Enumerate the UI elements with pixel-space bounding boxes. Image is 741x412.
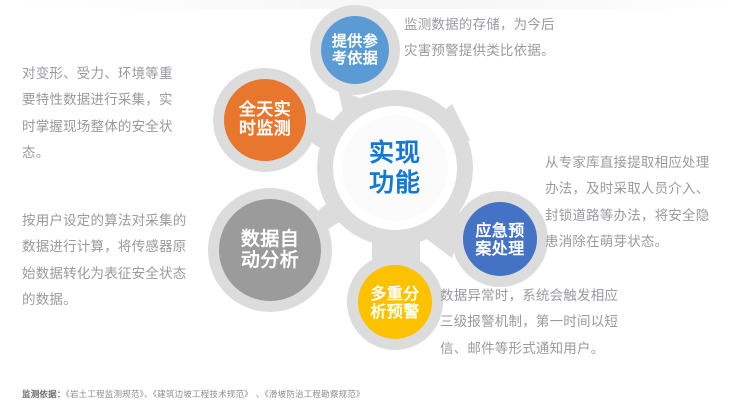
desc-realtime-monitoring-line-4: 态。 [22, 140, 232, 166]
desc-reference-basis: 监测数据的存储，为今后 灾害预警提供类比依据。 [404, 12, 654, 65]
desc-multi-alert: 数据异常时，系统会触发相应 三级报警机制，第一时间以短 信、邮件等形式通知用户。 [440, 283, 720, 362]
desc-emergency-plan-line-1: 从专家库直接提取相应处理 [545, 150, 741, 176]
desc-realtime-monitoring-line-3: 时掌握现场整体的安全状 [22, 114, 232, 140]
infographic-page: 实现 功能 提供参 考依据 全天实 时监测 数据自 动分析 多重分 析预警 应急… [0, 0, 741, 412]
desc-multi-alert-line-3: 信、邮件等形式通知用户。 [440, 336, 720, 362]
desc-realtime-monitoring-line-1: 对变形、受力、环境等重 [22, 61, 232, 87]
desc-emergency-plan: 从专家库直接提取相应处理 办法，及时采取人员介入、 封锁道路等办法，将安全隐 患… [545, 150, 741, 255]
desc-reference-basis-line-1: 监测数据的存储，为今后 [404, 12, 654, 38]
desc-emergency-plan-line-2: 办法，及时采取人员介入、 [545, 176, 741, 202]
desc-multi-alert-line-2: 三级报警机制，第一时间以短 [440, 309, 720, 335]
desc-auto-analysis: 按用户设定的算法对采集的 数据进行计算，将传感器原 始数据转化为表征安全状态 的… [22, 208, 242, 313]
desc-emergency-plan-line-4: 患消除在萌芽状态。 [545, 229, 741, 255]
desc-auto-analysis-line-3: 始数据转化为表征安全状态 [22, 261, 242, 287]
desc-auto-analysis-line-4: 的数据。 [22, 287, 242, 313]
node-emergency-plan-circle[interactable] [463, 202, 537, 276]
desc-realtime-monitoring: 对变形、受力、环境等重 要特性数据进行采集，实 时掌握现场整体的安全状 态。 [22, 61, 232, 166]
desc-emergency-plan-line-3: 封锁道路等办法，将安全隐 [545, 203, 741, 229]
footer-standards: 《岩土工程监测规范》、《建筑边坡工程技术规范》 、《滑坡防治工程勘察规范》 [66, 390, 365, 400]
footer-note: 监测依据：《岩土工程监测规范》、《建筑边坡工程技术规范》 、《滑坡防治工程勘察规… [22, 388, 365, 400]
footer-label: 监测依据： [22, 390, 66, 400]
node-realtime-monitoring-circle[interactable] [224, 79, 306, 161]
desc-auto-analysis-line-2: 数据进行计算，将传感器原 [22, 234, 242, 260]
desc-multi-alert-line-1: 数据异常时，系统会触发相应 [440, 283, 720, 309]
desc-auto-analysis-line-1: 按用户设定的算法对采集的 [22, 208, 242, 234]
desc-realtime-monitoring-line-2: 要特性数据进行采集，实 [22, 87, 232, 113]
node-reference-basis-circle[interactable] [321, 16, 389, 84]
node-multi-alert-circle[interactable] [358, 265, 432, 339]
center-circle [342, 115, 448, 221]
desc-reference-basis-line-2: 灾害预警提供类比依据。 [404, 38, 654, 64]
